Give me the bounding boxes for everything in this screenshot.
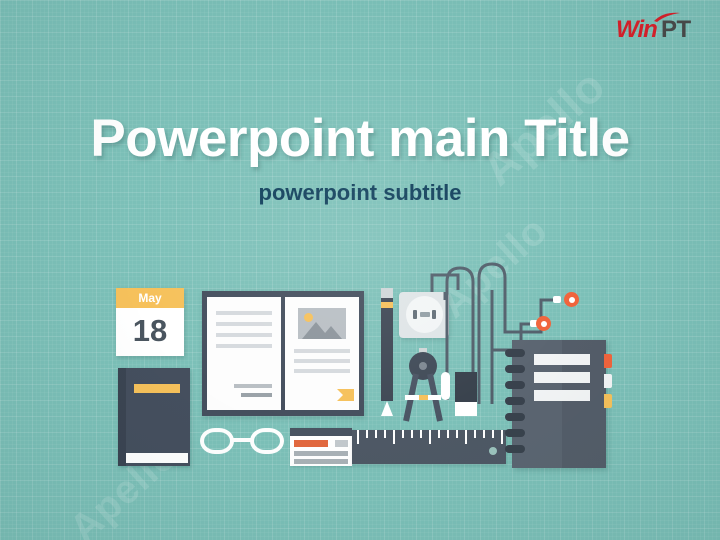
calendar-day: 18 (116, 308, 184, 356)
book-label (134, 384, 180, 393)
compass-crossbar (405, 395, 441, 400)
spiral-notebook-icon (512, 340, 606, 468)
notebook-tab (604, 374, 612, 388)
closed-book-icon (118, 368, 190, 466)
calendar-icon: May 18 (116, 288, 184, 356)
cable-group (0, 0, 720, 540)
compass-divider-icon (396, 348, 450, 420)
book-pages (126, 453, 188, 463)
bookmark-ribbon (337, 389, 354, 401)
winpt-logo: Win PT (616, 12, 702, 44)
logo-text-win: Win (616, 18, 657, 42)
eraser-icon (455, 372, 477, 402)
card-accent-bar (294, 440, 328, 447)
notebook-tab (604, 394, 612, 408)
glasses-bridge (233, 438, 251, 442)
logo-text-pt: PT (661, 18, 691, 42)
power-socket-icon (399, 292, 449, 338)
content-card-icon (290, 428, 352, 466)
compass-leg-right (427, 373, 443, 421)
ruler-icon (352, 430, 506, 464)
pencil-tip (381, 401, 393, 416)
compass-head (409, 352, 437, 380)
watermark-text: Apello (431, 208, 556, 327)
cable-connector-dot (564, 292, 579, 307)
page-title: Powerpoint main Title (0, 108, 720, 169)
notebook-tab (604, 354, 612, 368)
stationery-illustration: May 18 (0, 0, 720, 540)
presentation-slide: Apello Apello Apello Win PT Powerpoint m… (0, 0, 720, 540)
image-thumbnail (298, 308, 346, 339)
book-spine (118, 368, 126, 466)
watermark-text: Apello (61, 433, 186, 540)
pencil-band (381, 302, 393, 308)
book-page-right (285, 297, 359, 410)
book-page-left (207, 297, 281, 410)
sun-icon (304, 313, 313, 322)
vignette-overlay (0, 0, 720, 540)
calendar-month: May (116, 288, 184, 308)
pencil-eraser (381, 288, 393, 298)
ruler-hole (489, 447, 497, 455)
open-book-icon (202, 291, 364, 416)
cable-inline-switch (441, 372, 450, 400)
pencil-icon (381, 288, 393, 416)
eyeglasses-icon (200, 428, 284, 456)
socket-face (406, 296, 443, 333)
socket-slot (420, 312, 430, 317)
pencil-body (381, 298, 393, 401)
notebook-shading (562, 340, 606, 468)
grid-paper-texture (0, 0, 720, 540)
page-subtitle: powerpoint subtitle (0, 180, 720, 206)
eraser-sleeve (455, 402, 477, 416)
compass-hub (419, 362, 427, 370)
glasses-lens-left (200, 428, 234, 454)
compass-knob (419, 348, 427, 354)
card-button-block (335, 440, 348, 447)
card-header-bar (290, 428, 352, 436)
compass-crossbar-accent (419, 395, 428, 400)
cable-connector-dot (536, 316, 551, 331)
glasses-lens-right (250, 428, 284, 454)
compass-leg-left (403, 373, 419, 421)
